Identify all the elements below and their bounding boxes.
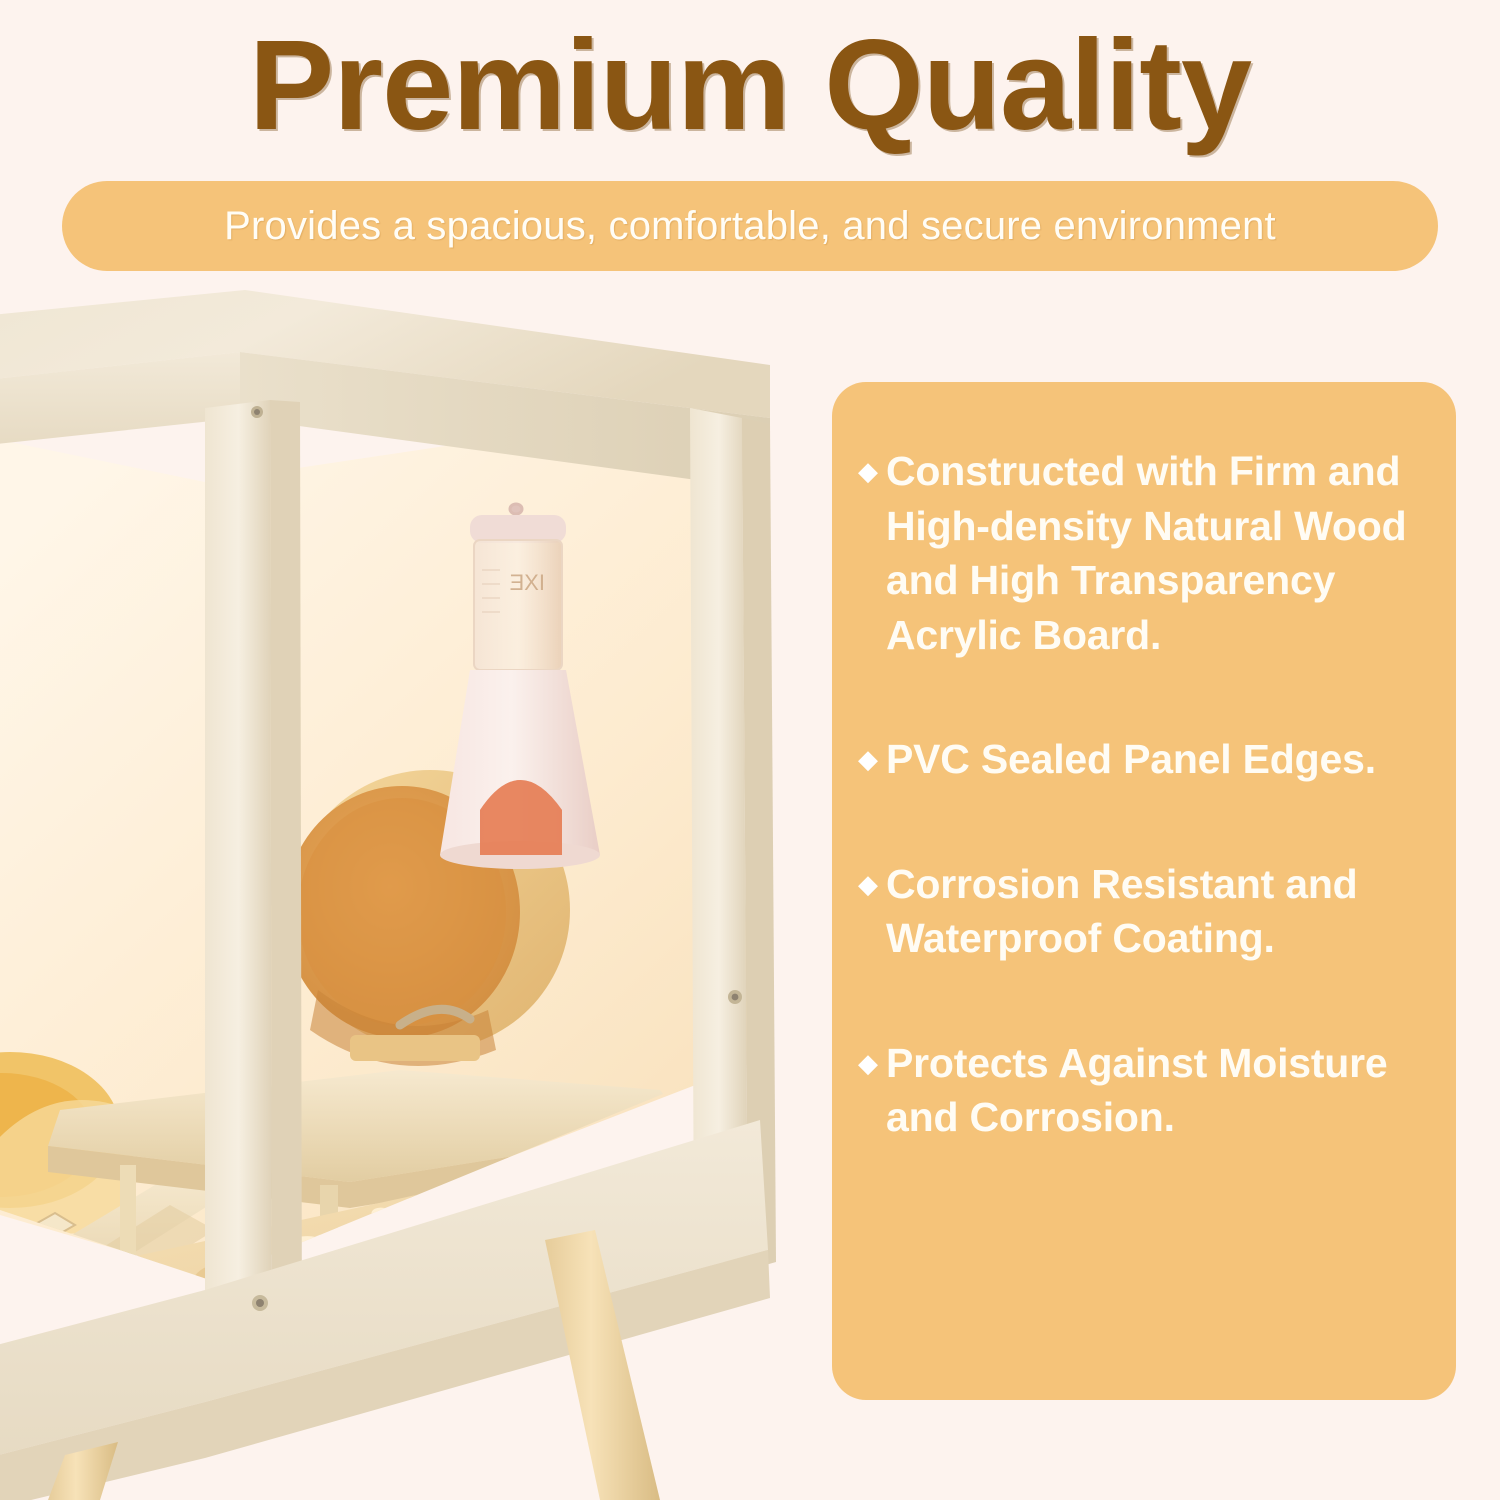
feature-item: ◆ Corrosion Resistant and Waterproof Coa… bbox=[856, 857, 1428, 966]
feature-text: PVC Sealed Panel Edges. bbox=[886, 732, 1428, 787]
hamster-cage-illustration: IXE bbox=[0, 290, 800, 1500]
page-title: Premium Quality bbox=[0, 22, 1500, 150]
svg-text:IXE: IXE bbox=[510, 570, 545, 595]
subtitle-banner: Provides a spacious, comfortable, and se… bbox=[62, 181, 1438, 271]
feature-panel: ◆ Constructed with Firm and High-density… bbox=[832, 382, 1456, 1400]
feature-item: ◆ Constructed with Firm and High-density… bbox=[856, 444, 1428, 662]
diamond-bullet-icon: ◆ bbox=[856, 857, 886, 911]
diamond-bullet-icon: ◆ bbox=[856, 444, 886, 498]
diamond-bullet-icon: ◆ bbox=[856, 1036, 886, 1090]
feature-item: ◆ Protects Against Moisture and Corrosio… bbox=[856, 1036, 1428, 1145]
feature-text: Protects Against Moisture and Corrosion. bbox=[886, 1036, 1428, 1145]
cage-corner-post bbox=[205, 400, 272, 1398]
feature-item: ◆ PVC Sealed Panel Edges. bbox=[856, 732, 1428, 787]
product-photo: IXE bbox=[0, 290, 800, 1500]
feature-text: Corrosion Resistant and Waterproof Coati… bbox=[886, 857, 1428, 966]
subtitle-text: Provides a spacious, comfortable, and se… bbox=[224, 204, 1276, 249]
feature-text: Constructed with Firm and High-density N… bbox=[886, 444, 1428, 662]
diamond-bullet-icon: ◆ bbox=[856, 732, 886, 786]
